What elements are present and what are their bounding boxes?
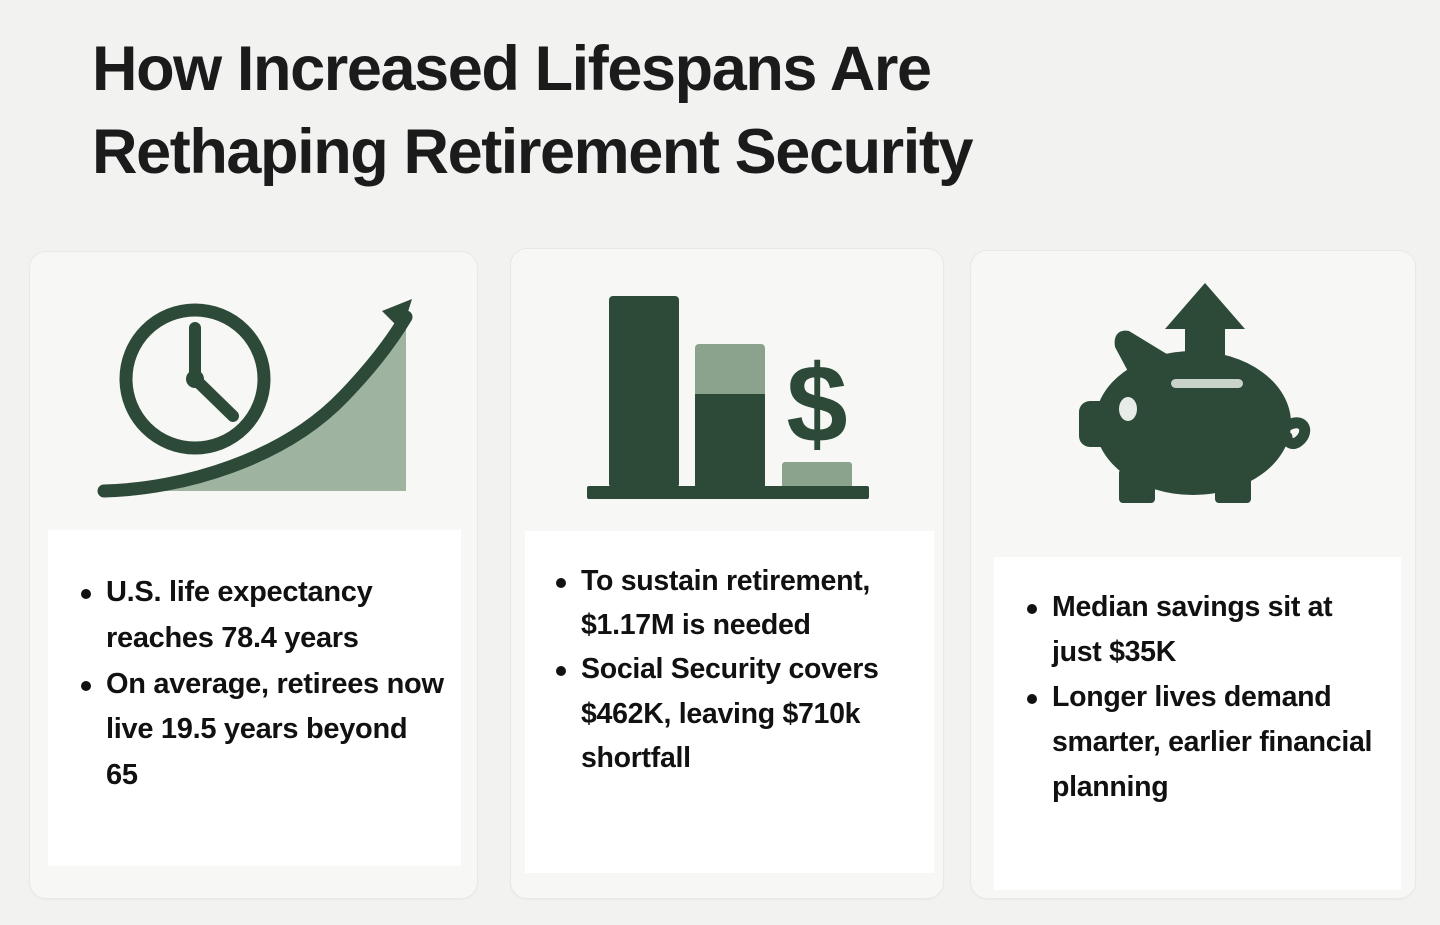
svg-text:$: $ bbox=[786, 343, 847, 466]
list-item: Longer lives demand smarter, earlier fin… bbox=[1018, 675, 1389, 810]
bullet-list-retirement-funding-gap: To sustain retirement, $1.17M is needed … bbox=[525, 531, 934, 780]
card-row: U.S. life expectancy reaches 78.4 years … bbox=[0, 0, 1440, 925]
clock-growth-curve-icon bbox=[94, 291, 414, 506]
text-block-life-expectancy: U.S. life expectancy reaches 78.4 years … bbox=[48, 530, 461, 866]
text-block-retirement-funding-gap: To sustain retirement, $1.17M is needed … bbox=[525, 531, 934, 873]
list-item: On average, retirees now live 19.5 years… bbox=[72, 662, 445, 799]
bullet-list-life-expectancy: U.S. life expectancy reaches 78.4 years … bbox=[48, 530, 461, 799]
card-life-expectancy: U.S. life expectancy reaches 78.4 years … bbox=[29, 251, 478, 899]
list-item: U.S. life expectancy reaches 78.4 years bbox=[72, 570, 445, 662]
card-retirement-funding-gap: $ To sustain retirement, $1.17M is neede… bbox=[510, 248, 944, 899]
icon-area-retirement-funding-gap: $ bbox=[511, 271, 943, 521]
bullet-list-savings-shortfall: Median savings sit at just $35K Longer l… bbox=[994, 557, 1401, 810]
bar-chart-dollar-icon: $ bbox=[577, 284, 877, 509]
list-item: Social Security covers $462K, leaving $7… bbox=[547, 647, 924, 780]
text-block-savings-shortfall: Median savings sit at just $35K Longer l… bbox=[994, 557, 1401, 890]
piggy-bank-arrow-up-icon bbox=[1053, 273, 1333, 513]
card-savings-shortfall: Median savings sit at just $35K Longer l… bbox=[970, 250, 1416, 899]
list-item: To sustain retirement, $1.17M is needed bbox=[547, 559, 924, 647]
list-item: Median savings sit at just $35K bbox=[1018, 585, 1389, 675]
icon-area-life-expectancy bbox=[30, 278, 477, 518]
icon-area-savings-shortfall bbox=[971, 265, 1415, 520]
